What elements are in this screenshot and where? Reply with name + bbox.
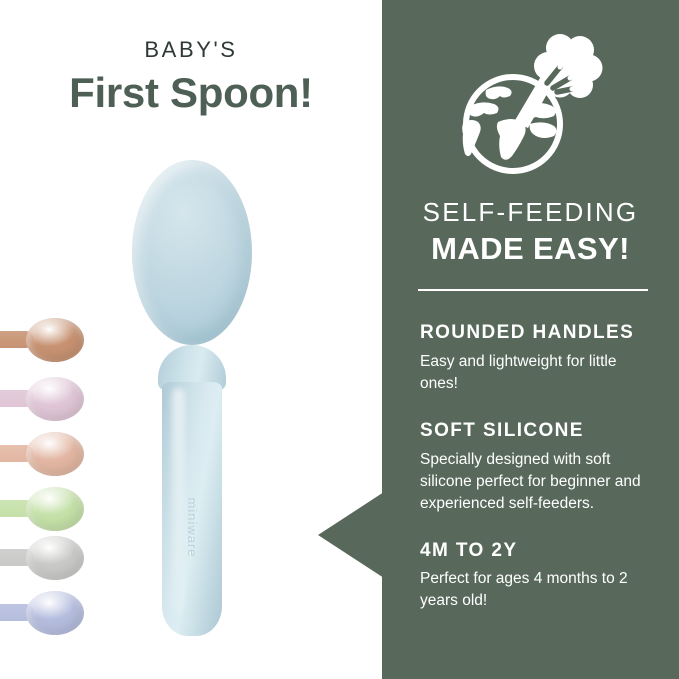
spoon-swatch-green[interactable] [0,487,84,531]
feature-rounded-handles: ROUNDED HANDLESEasy and lightweight for … [420,322,658,395]
left-panel: BABY'S First Spoon! miniware [0,0,382,679]
spoon-swatch-periwinkle[interactable] [0,591,84,635]
globe-broccoli-icon [382,22,679,182]
spoon-bowl [132,160,252,345]
feature-soft-silicone: SOFT SILICONESpecially designed with sof… [420,420,658,515]
right-panel: SELF-FEEDING MADE EASY! ROUNDED HANDLESE… [382,0,679,679]
swatch-spoon-bowl [26,536,84,580]
promo-heading-line2: MADE EASY! [382,231,679,267]
feature-title: SOFT SILICONE [420,420,658,443]
swatch-spoon-bowl [26,377,84,421]
swatch-spoon-bowl [26,432,84,476]
swatch-spoon-bowl [26,591,84,635]
feature-title: 4M TO 2Y [420,540,658,563]
spoon-swatch-lilac-pink[interactable] [0,377,84,421]
spoon-swatch-peach[interactable] [0,432,84,476]
spoon-handle [162,382,222,636]
feature-body: Specially designed with soft silicone pe… [420,449,658,515]
promo-heading-line1: SELF-FEEDING [382,198,679,228]
spoon-swatch-tan[interactable] [0,318,84,362]
promo-heading: SELF-FEEDING MADE EASY! [382,198,679,267]
feature-list: ROUNDED HANDLESEasy and lightweight for … [420,322,658,612]
headline-title: First Spoon! [0,70,382,115]
swatch-spoon-bowl [26,318,84,362]
swatch-spoon-bowl [26,487,84,531]
feature-body: Perfect for ages 4 months to 2 years old… [420,568,658,612]
panel-pointer-arrow [318,492,384,578]
main-spoon-image: miniware [118,160,266,638]
spoon-swatch-grey[interactable] [0,536,84,580]
headline-block: BABY'S First Spoon! [0,38,382,116]
feature-body: Easy and lightweight for little ones! [420,351,658,395]
product-infographic: BABY'S First Spoon! miniware [0,0,679,679]
feature-title: ROUNDED HANDLES [420,322,658,345]
headline-eyebrow: BABY'S [0,38,382,62]
promo-divider [418,289,648,291]
feature-age-range: 4M TO 2YPerfect for ages 4 months to 2 y… [420,540,658,613]
